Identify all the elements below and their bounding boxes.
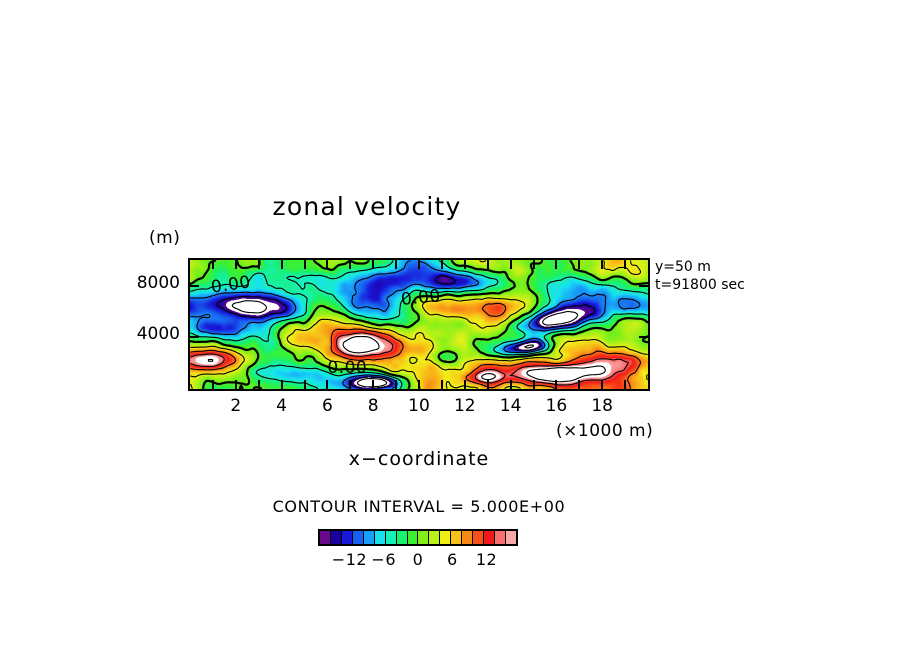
colorbar-swatch: [473, 531, 484, 544]
x-axis-tick-label: 6: [307, 396, 347, 416]
x-axis-tick: [235, 380, 237, 389]
x-axis-tick: [578, 380, 580, 389]
x-axis-tick: [349, 380, 351, 389]
x-axis-tick: [349, 260, 351, 269]
contour-value-label: 0.00: [327, 358, 367, 378]
x-axis-tick: [304, 260, 306, 269]
x-axis-tick: [281, 260, 283, 269]
contour-lines-overlay: [190, 260, 648, 389]
y-axis-tick: [639, 336, 648, 338]
x-axis-tick: [487, 380, 489, 389]
colorbar-swatch: [451, 531, 462, 544]
annotation-time: t=91800 sec: [655, 276, 745, 294]
x-axis-tick: [258, 380, 260, 389]
y-axis-tick: [190, 336, 199, 338]
x-axis-tick-label: 10: [399, 396, 439, 416]
colorbar-swatch: [429, 531, 440, 544]
contour-interval-caption: CONTOUR INTERVAL = 5.000E+00: [188, 497, 650, 516]
x-axis-tick: [212, 260, 214, 269]
colorbar-swatch: [320, 531, 331, 544]
annotation-y-level: y=50 m: [655, 258, 745, 276]
x-axis-tick: [258, 260, 260, 269]
colorbar-swatch: [331, 531, 342, 544]
x-axis-tick: [555, 260, 557, 269]
x-axis-tick: [464, 260, 466, 269]
x-axis-tick: [601, 380, 603, 389]
y-axis-tick-label: 8000: [137, 273, 180, 293]
colorbar-swatch: [342, 531, 353, 544]
contour-line-level-20: [208, 337, 605, 382]
figure-canvas: zonal velocity (m) 0.000.000.00 40008000…: [0, 0, 904, 654]
x-axis-tick: [326, 380, 328, 389]
x-axis-tick: [212, 380, 214, 389]
y-axis-tick-labels: 40008000: [120, 258, 180, 391]
x-axis-tick-label: 18: [582, 396, 622, 416]
x-axis-tick: [281, 380, 283, 389]
x-axis-tick-label: 14: [491, 396, 531, 416]
x-axis-tick: [601, 260, 603, 269]
colorbar-swatch: [506, 531, 516, 544]
colorbar-swatch: [408, 531, 419, 544]
colorbar-swatch: [484, 531, 495, 544]
colorbar-swatch: [418, 531, 429, 544]
x-axis-tick-label: 16: [536, 396, 576, 416]
x-axis-tick: [578, 260, 580, 269]
colorbar-tick-labels: −12−60612: [300, 550, 536, 572]
y-axis-tick: [190, 285, 199, 287]
x-axis-tick: [510, 260, 512, 269]
x-axis-tick: [235, 260, 237, 269]
x-axis-tick: [395, 380, 397, 389]
plot-annotations: y=50 m t=91800 sec: [655, 258, 745, 294]
x-axis-tick: [533, 260, 535, 269]
x-axis-tick: [464, 380, 466, 389]
x-axis-tick: [326, 260, 328, 269]
y-axis-tick: [639, 285, 648, 287]
x-axis-tick-label: 8: [353, 396, 393, 416]
contour-plot-area: 0.000.000.00: [188, 258, 650, 391]
x-axis-tick: [487, 260, 489, 269]
x-axis-tick: [304, 380, 306, 389]
x-axis-tick: [372, 380, 374, 389]
x-axis-tick: [624, 260, 626, 269]
colorbar-tick-label: 12: [465, 550, 509, 569]
x-axis-tick: [372, 260, 374, 269]
colorbar: [318, 529, 518, 546]
x-axis-tick-label: 4: [262, 396, 302, 416]
x-axis-tick-label: 12: [445, 396, 485, 416]
colorbar-swatch: [397, 531, 408, 544]
colorbar-swatch: [353, 531, 364, 544]
x-axis-tick: [441, 380, 443, 389]
y-axis-unit-label: (m): [149, 228, 180, 248]
x-axis-tick: [510, 380, 512, 389]
x-axis-tick: [624, 380, 626, 389]
x-axis-tick: [555, 380, 557, 389]
x-axis-tick: [418, 260, 420, 269]
colorbar-swatch: [375, 531, 386, 544]
x-axis-tick: [395, 260, 397, 269]
colorbar-swatch: [364, 531, 375, 544]
x-axis-unit-label: (×1000 m): [556, 421, 653, 441]
x-axis-label: x−coordinate: [188, 448, 650, 470]
colorbar-swatch: [386, 531, 397, 544]
x-axis-tick-label: 2: [216, 396, 256, 416]
colorbar-swatch: [440, 531, 451, 544]
colorbar-swatch: [495, 531, 506, 544]
colorbar-swatch: [462, 531, 473, 544]
y-axis-tick-label: 4000: [137, 324, 180, 344]
x-axis-tick: [441, 260, 443, 269]
x-axis-tick: [533, 380, 535, 389]
page-title: zonal velocity: [0, 192, 819, 221]
x-axis-tick: [418, 380, 420, 389]
